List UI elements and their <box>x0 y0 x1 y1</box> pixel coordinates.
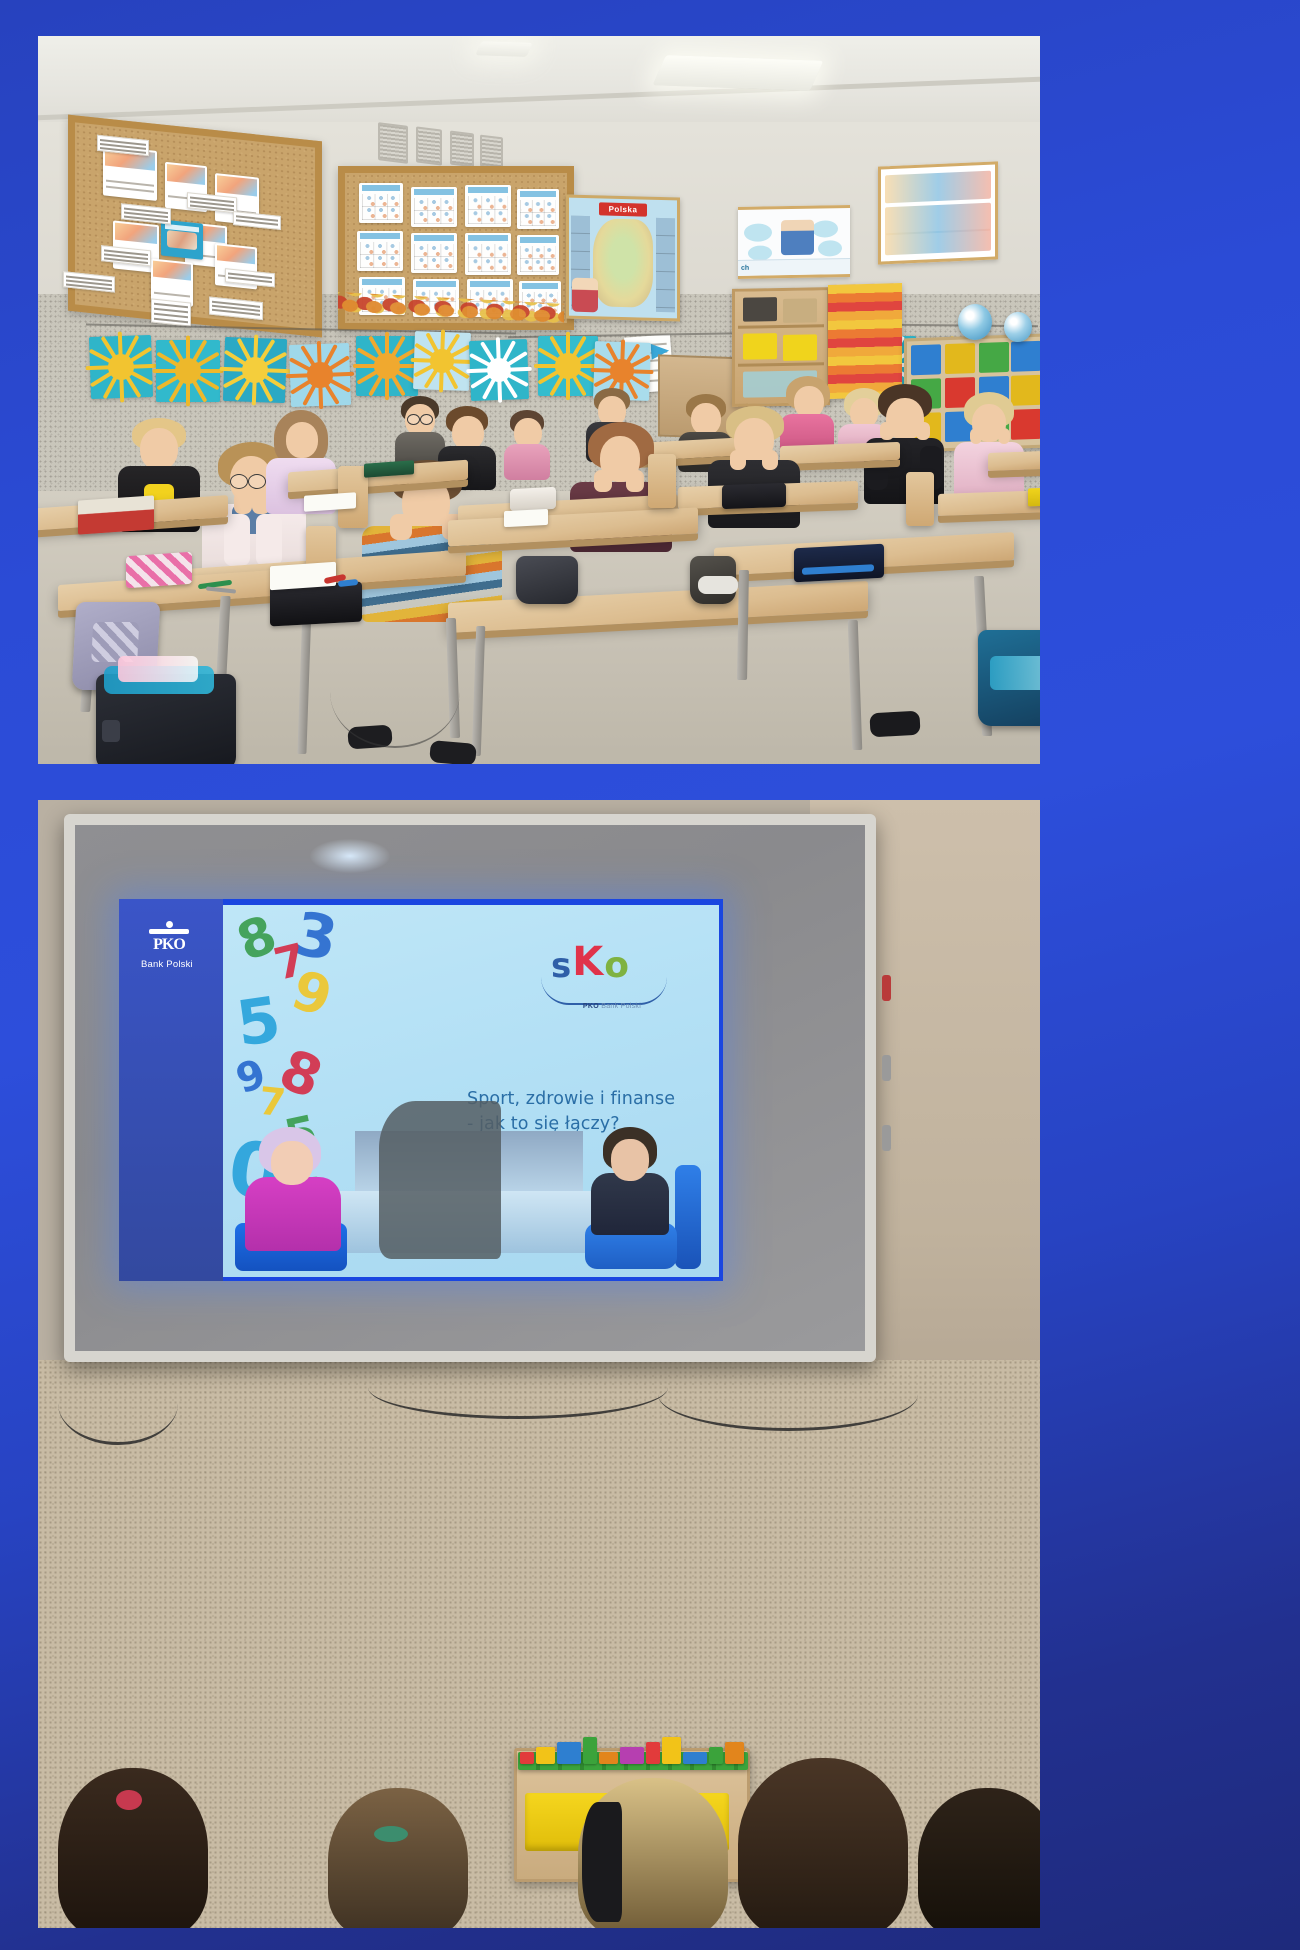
foreground-pupil <box>578 1778 728 1928</box>
chair-back <box>648 454 676 508</box>
sun-face <box>374 353 399 378</box>
sun-ray <box>566 332 570 356</box>
building-block <box>683 1752 707 1764</box>
building-block <box>599 1752 618 1764</box>
projection-scene: PKO Bank Polski 837958975069 sKo PKO Ban… <box>38 800 1040 1928</box>
pencil-case <box>126 552 192 589</box>
building-blocks <box>520 1730 748 1764</box>
pencil-case <box>722 483 786 509</box>
foreground-pupil <box>918 1788 1040 1928</box>
pencil-case <box>510 487 556 511</box>
book <box>1028 488 1040 507</box>
sun-ray <box>385 332 389 356</box>
sun-artwork-card <box>223 337 287 403</box>
sun-face <box>555 353 580 378</box>
backpack <box>978 630 1040 726</box>
sun-artwork-card <box>289 343 351 407</box>
pko-bank-polski-logo: PKO Bank Polski <box>141 921 197 973</box>
map-outline <box>593 218 654 308</box>
chair <box>675 1165 701 1269</box>
poster-child-photo <box>781 219 815 255</box>
caption-label <box>233 211 281 230</box>
map-thumbnails-right <box>656 218 675 313</box>
classroom-scene: Polska ch <box>38 36 1040 764</box>
sun-artwork-card <box>469 339 529 401</box>
sko-presentation-slide: PKO Bank Polski 837958975069 sKo PKO Ban… <box>119 899 723 1281</box>
shoe <box>698 576 738 594</box>
pko-mark-icon: PKO <box>147 921 191 955</box>
pictogram-sheet <box>357 231 403 271</box>
sun-ray <box>131 364 156 369</box>
pictogram-sheet <box>465 233 511 275</box>
pictogram-sheet <box>517 235 559 275</box>
photo-collage: Polska ch <box>0 0 1300 1950</box>
pictogram-sheet <box>465 185 511 227</box>
interactive-whiteboard[interactable]: PKO Bank Polski 837958975069 sKo PKO Ban… <box>64 814 876 1362</box>
whiteboard-button[interactable] <box>882 975 891 1001</box>
sun-face <box>430 349 454 373</box>
globe-icon <box>1004 312 1032 342</box>
building-block <box>520 1752 534 1764</box>
pko-logo-letters: PKO <box>150 935 188 954</box>
building-block <box>536 1747 555 1764</box>
sun-ray <box>534 364 558 368</box>
classroom-photo: Polska ch <box>38 36 1040 764</box>
shoe <box>429 740 477 764</box>
sun-face <box>175 358 201 384</box>
ch-h-spelling-poster: ch <box>738 205 850 279</box>
slide-title-line-1: Sport, zdrowie i finanse <box>467 1087 723 1112</box>
sun-artwork-card <box>356 336 418 396</box>
foreground-pupil <box>738 1758 908 1928</box>
sun-ray <box>631 369 654 374</box>
sun-face <box>610 359 634 383</box>
power-cable <box>658 1358 918 1431</box>
foreground-pupil <box>328 1788 468 1928</box>
sun-ray <box>439 370 444 393</box>
sun-ray <box>252 380 257 405</box>
video-presenter-guest <box>573 1127 701 1277</box>
ceiling-light <box>653 55 824 91</box>
building-block <box>662 1737 681 1764</box>
building-block <box>646 1742 660 1764</box>
backpack <box>516 556 578 604</box>
sun-face <box>486 357 511 382</box>
pictogram-sheet <box>359 183 403 223</box>
desk-leg <box>737 570 749 680</box>
desk <box>988 451 1040 471</box>
sun-artwork-card <box>156 340 220 402</box>
screen-glare <box>310 839 390 873</box>
map-title: Polska <box>599 202 647 216</box>
video-shadow <box>379 1101 501 1259</box>
building-block <box>557 1742 581 1764</box>
ceiling-light-small <box>475 41 532 57</box>
power-cable <box>368 1356 668 1419</box>
whiteboard-button[interactable] <box>882 1125 891 1151</box>
bulletin-board-left <box>68 115 322 338</box>
foreground-pupil <box>58 1768 208 1928</box>
sun-ray <box>466 368 489 373</box>
sko-smile-icon <box>541 977 667 1005</box>
sun-face <box>108 354 135 381</box>
sun-ray <box>265 368 290 373</box>
notebook <box>270 562 336 591</box>
sko-logo: sKo PKO Bank Polski <box>535 941 673 1015</box>
sun-artwork-card <box>538 336 598 396</box>
sun-ray <box>318 385 323 409</box>
air-vent-icon <box>378 122 408 164</box>
sun-ray <box>497 380 502 403</box>
pictogram-sheet <box>411 233 457 273</box>
sun-ray <box>353 364 377 368</box>
air-vent-icon <box>480 135 503 170</box>
sun-ray <box>330 372 354 377</box>
floor-cable <box>330 636 460 748</box>
polska-map-poster: Polska <box>566 195 680 322</box>
torso <box>245 1177 341 1251</box>
face <box>271 1141 313 1185</box>
backpack <box>96 674 236 764</box>
pupil <box>504 410 552 476</box>
air-vent-icon <box>450 131 474 168</box>
whiteboard-button[interactable] <box>882 1055 891 1081</box>
sun-ray <box>118 332 123 357</box>
emergency-numbers-label <box>151 298 191 326</box>
right-wall-poster <box>878 161 998 264</box>
pictogram-sheet <box>517 189 559 229</box>
caption-label <box>209 296 263 320</box>
sun-ray <box>186 336 190 361</box>
sun-ray <box>86 365 111 370</box>
pko-logo-subtitle: Bank Polski <box>141 959 203 970</box>
sun-ray <box>496 337 501 360</box>
sun-ray <box>186 381 190 406</box>
sun-face <box>307 362 333 388</box>
notebook <box>504 509 548 527</box>
caption-label <box>63 271 115 292</box>
air-vent-icon <box>416 126 442 165</box>
face <box>611 1139 649 1181</box>
decorative-number: 5 <box>233 988 284 1055</box>
projection-photo: PKO Bank Polski 837958975069 sKo PKO Ban… <box>38 800 1040 1928</box>
sun-ray <box>153 369 178 373</box>
slide-canvas: 837958975069 sKo PKO Bank Polski Sport, … <box>223 905 719 1277</box>
stacked-workbooks <box>828 283 902 399</box>
sun-ray <box>220 367 245 372</box>
pictogram-sheet <box>411 187 457 227</box>
blue-rule-card <box>161 219 203 259</box>
map-poster-child-photo <box>572 278 598 313</box>
sun-artwork-card <box>89 335 153 399</box>
sko-logo-subtitle: PKO Bank Polski <box>557 1003 667 1010</box>
book-box <box>78 495 154 534</box>
desk <box>938 490 1040 516</box>
sun-ray <box>566 376 570 400</box>
sun-ray <box>253 335 258 360</box>
ch-letter-label: ch <box>738 258 850 276</box>
sun-face <box>242 357 269 384</box>
power-cable <box>58 1362 178 1445</box>
building-block <box>583 1737 597 1764</box>
video-presenter-woman <box>235 1127 353 1277</box>
chair-back <box>906 472 934 526</box>
sun-ray <box>385 376 389 400</box>
sun-ray <box>119 377 124 402</box>
sun-ray <box>509 367 532 372</box>
building-block <box>709 1747 723 1764</box>
shoe <box>869 711 920 738</box>
ceiling <box>38 36 1040 132</box>
pencil-case <box>794 544 884 583</box>
building-block <box>620 1747 644 1764</box>
torso <box>591 1173 669 1235</box>
globe-icon <box>958 304 992 340</box>
sun-artwork-card <box>413 331 471 391</box>
